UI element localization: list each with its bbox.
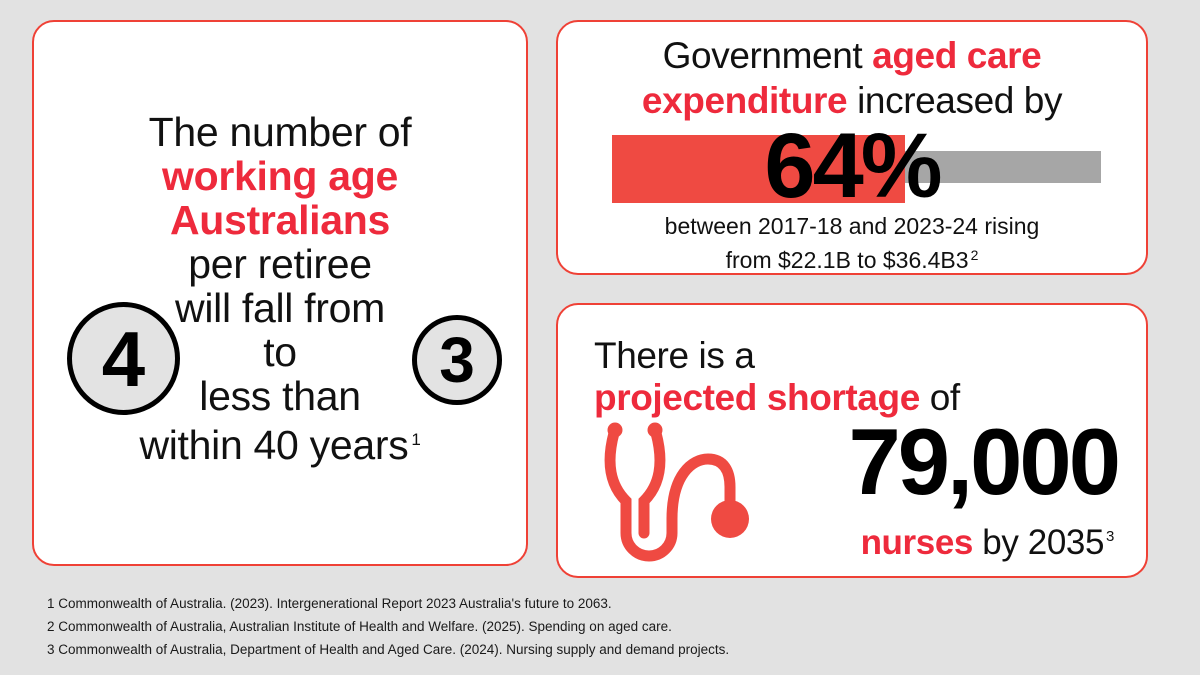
expenditure-caption-line-1: between 2017-18 and 2023-24 rising (665, 213, 1040, 239)
nurse-line-4: nurses by 20353 (861, 517, 1114, 563)
nurse-shortage-card: There is a projected shortage of 79,000 … (556, 303, 1148, 578)
retiree-footnote-marker: 1 (411, 430, 420, 449)
expenditure-caption-line-2: from $22.1B to $36.4B3 (726, 247, 969, 273)
ratio-from-value: 4 (102, 320, 145, 398)
footnote-3: 3 Commonwealth of Australia, Department … (47, 638, 1147, 661)
retiree-line-1: The number of (149, 109, 412, 155)
nurse-footnote-marker: 3 (1106, 528, 1114, 545)
nurse-highlight-nurses: nurses (861, 523, 973, 562)
expenditure-bar-chart: 64% (558, 128, 1146, 206)
expenditure-heading: Government aged care expenditure increas… (576, 33, 1128, 123)
aged-care-expenditure-card: Government aged care expenditure increas… (556, 20, 1148, 275)
expenditure-heading-part-1: Government (663, 35, 872, 76)
retiree-ratio-card: The number of working age Australians pe… (32, 20, 528, 566)
expenditure-highlight-aged-care: aged care (872, 35, 1041, 76)
retiree-highlight-working-age: working age (162, 153, 398, 199)
expenditure-percent-value: 64% (558, 120, 1146, 212)
ratio-to-circle: 3 (412, 315, 502, 405)
retiree-line-6: within 40 years (139, 422, 408, 468)
expenditure-footnote-marker: 2 (971, 247, 979, 263)
footnote-2: 2 Commonwealth of Australia, Australian … (47, 615, 1147, 638)
footnotes-list: 1 Commonwealth of Australia. (2023). Int… (47, 592, 1147, 661)
retiree-highlight-australians: Australians (170, 197, 390, 243)
stethoscope-icon (596, 415, 756, 567)
retiree-line-5: less than (199, 373, 360, 419)
ratio-to-value: 3 (439, 328, 475, 392)
retiree-line-3: will fall from (175, 285, 385, 331)
expenditure-caption: between 2017-18 and 2023-24 rising from … (578, 212, 1126, 275)
nurse-shortage-value: 79,000 (848, 415, 1118, 509)
nurse-line-1: There is a (594, 335, 755, 377)
ratio-from-circle: 4 (67, 302, 180, 415)
retiree-line-4: to (263, 329, 297, 375)
footnote-1: 1 Commonwealth of Australia. (2023). Int… (47, 592, 1147, 615)
nurse-line-4-tail: by 2035 (973, 523, 1104, 562)
retiree-line-2: per retiree (188, 241, 372, 287)
